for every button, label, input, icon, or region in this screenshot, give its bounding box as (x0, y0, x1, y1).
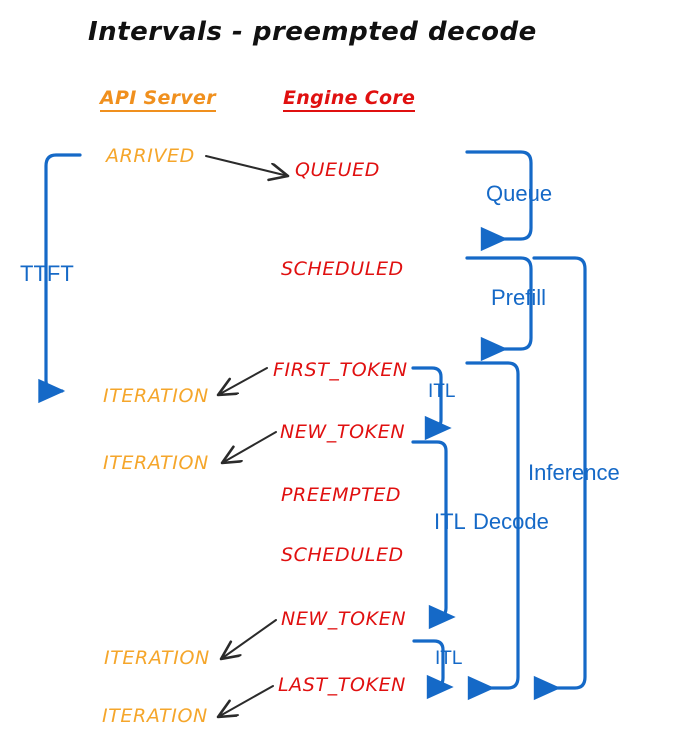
engine-event-last-token: LAST_TOKEN (278, 676, 406, 695)
arrow-first-token-to-iteration (218, 368, 267, 395)
interval-label-ttft: TTFT (20, 263, 74, 285)
arrow-new-token-to-iteration-2 (221, 620, 276, 659)
engine-event-scheduled-2: SCHEDULED (281, 546, 404, 565)
interval-label-queue: Queue (486, 183, 552, 205)
engine-event-queued: QUEUED (295, 161, 380, 180)
api-event-iteration-1: ITERATION (103, 387, 209, 406)
column-header-engine-core: Engine Core (283, 89, 415, 112)
interval-label-itl-1: ITL (428, 382, 455, 401)
api-event-arrived: ARRIVED (106, 147, 195, 166)
interval-label-decode: Decode (473, 511, 549, 533)
api-event-iteration-2: ITERATION (103, 454, 209, 473)
api-event-iteration-4: ITERATION (102, 707, 208, 726)
api-event-iteration-3: ITERATION (104, 649, 210, 668)
engine-event-scheduled-1: SCHEDULED (281, 260, 404, 279)
column-header-api-server: API Server (100, 89, 216, 112)
interval-label-inference: Inference (528, 462, 620, 484)
interval-label-prefill: Prefill (491, 287, 546, 309)
diagram-canvas: Intervals - preempted decode API Server … (0, 0, 679, 750)
engine-event-new-token-2: NEW_TOKEN (281, 610, 406, 629)
interval-label-itl-2: ITL (434, 511, 466, 533)
interval-label-itl-3: ITL (435, 649, 462, 668)
arrow-arrived-to-queued (206, 156, 288, 176)
engine-event-first-token: FIRST_TOKEN (273, 361, 408, 380)
arrow-last-token-to-iteration (218, 686, 273, 717)
arrow-new-token-to-iteration-1 (222, 432, 276, 463)
diagram-title: Intervals - preempted decode (88, 19, 537, 45)
engine-event-preempted: PREEMPTED (281, 486, 401, 505)
engine-event-new-token-1: NEW_TOKEN (280, 423, 405, 442)
